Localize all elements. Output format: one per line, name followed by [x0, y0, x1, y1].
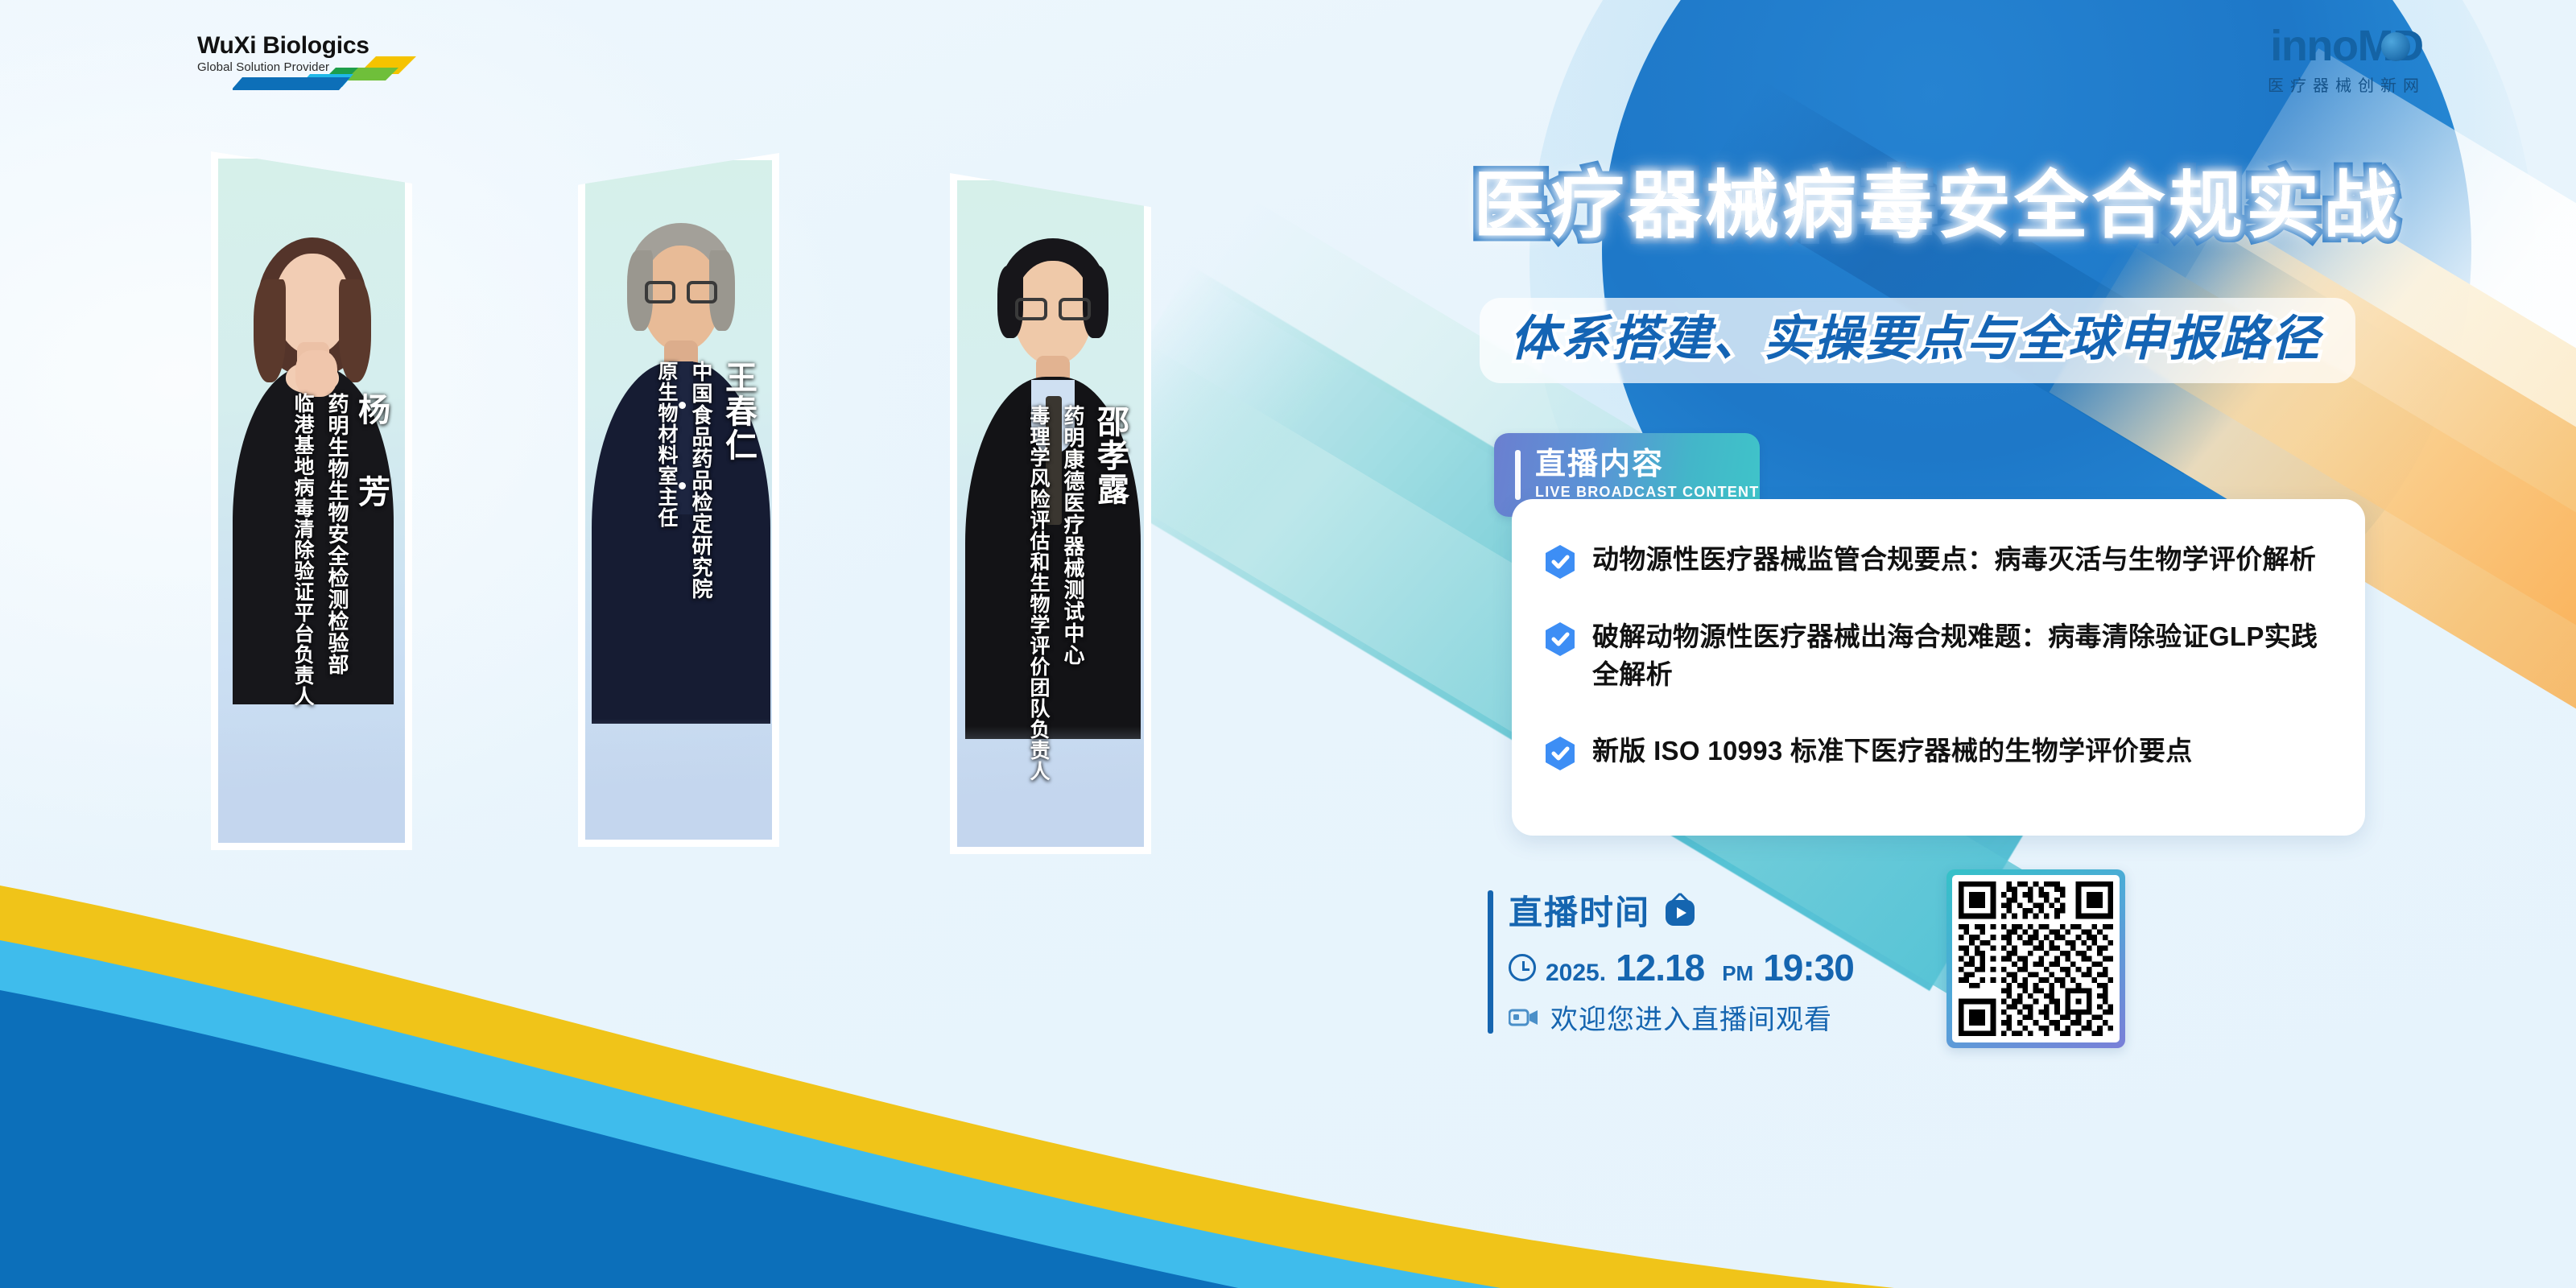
live-content-card: 动物源性医疗器械监管合规要点：病毒灭活与生物学评价解析 破解动物源性医疗器械出海…: [1512, 499, 2365, 836]
speaker-name: 杨 芳: [348, 393, 394, 514]
hero-title-wrap: 医疗器械病毒安全合规实战: [1473, 167, 2495, 246]
qr-code-pattern: [1959, 881, 2113, 1036]
bullet-text: 新版 ISO 10993 标准下医疗器械的生物学评价要点: [1592, 733, 2193, 770]
clock-icon: [1509, 954, 1536, 981]
badge-title-cn: 直播内容: [1535, 449, 1759, 481]
badge-accent-bar: [1515, 450, 1521, 500]
schedule-year: 2025.: [1546, 960, 1606, 987]
hero-subtitle-panel: 体系搭建、实操要点与全球申报路径: [1480, 298, 2355, 383]
speaker-card-group: 杨 芳 药明生物生物安全检测检验部 临港基地病毒清除验证平台负责人 王: [0, 0, 1368, 966]
speaker-org: 中国食品药品检定研究院: [687, 361, 716, 600]
video-camera-icon: [1509, 1007, 1539, 1028]
schedule-time: 19:30: [1763, 946, 1854, 989]
list-item: 动物源性医疗器械监管合规要点：病毒灭活与生物学评价解析: [1544, 541, 2330, 580]
check-badge-icon: [1544, 544, 1576, 580]
speaker-role: 毒理学风险评估和生物学评价团队负责人: [1024, 405, 1053, 782]
speaker-card: 杨 芳 药明生物生物安全检测检验部 临港基地病毒清除验证平台负责人: [211, 151, 412, 850]
schedule-welcome-text: 欢迎您进入直播间观看: [1550, 997, 1832, 1037]
globe-icon: [2381, 32, 2410, 61]
speaker-org: 药明生物生物安全检测检验部: [323, 393, 353, 675]
badge-title-en: LIVE BROADCAST CONTENT: [1535, 484, 1759, 501]
speaker-role: 临港基地病毒清除验证平台负责人: [288, 393, 317, 707]
qr-code-inner: [1952, 875, 2120, 1042]
schedule-date: 12.18: [1616, 946, 1704, 989]
innomd-logo-wordmark: innoMD: [2270, 24, 2423, 68]
list-item: 新版 ISO 10993 标准下医疗器械的生物学评价要点: [1544, 733, 2330, 771]
qr-code[interactable]: [1946, 869, 2125, 1048]
speaker-name: 邵孝露: [1087, 405, 1133, 506]
page-subtitle: 体系搭建、实操要点与全球申报路径: [1510, 312, 2322, 365]
schedule-ampm: PM: [1722, 961, 1753, 986]
check-badge-icon: [1544, 736, 1576, 771]
speaker-name: 王春仁: [715, 361, 762, 462]
speaker-org: 药明康德医疗器械测试中心: [1059, 405, 1088, 666]
list-item: 破解动物源性医疗器械出海合规难题：病毒清除验证GLP实践全解析: [1544, 618, 2330, 694]
speaker-card: 王春仁 中国食品药品检定研究院 原生物材料室主任: [578, 153, 779, 847]
tv-play-icon: [1662, 893, 1699, 928]
innomd-logo: innoMD 医疗器械创新网: [2214, 24, 2479, 95]
check-badge-icon: [1544, 621, 1576, 657]
speaker-role: 原生物材料室主任: [652, 361, 681, 528]
webinar-poster: WuXi Biologics Global Solution Provider …: [0, 0, 2576, 1288]
schedule-heading: 直播时间: [1509, 885, 1650, 935]
speaker-card: 邵孝露 药明康德医疗器械测试中心 毒理学风险评估和生物学评价团队负责人: [950, 173, 1151, 854]
innomd-logo-subtitle: 医疗器械创新网: [2214, 72, 2479, 96]
page-title: 医疗器械病毒安全合规实战: [1473, 167, 2495, 246]
bullet-text: 破解动物源性医疗器械出海合规难题：病毒清除验证GLP实践全解析: [1592, 618, 2330, 694]
bullet-text: 动物源性医疗器械监管合规要点：病毒灭活与生物学评价解析: [1592, 541, 2316, 579]
